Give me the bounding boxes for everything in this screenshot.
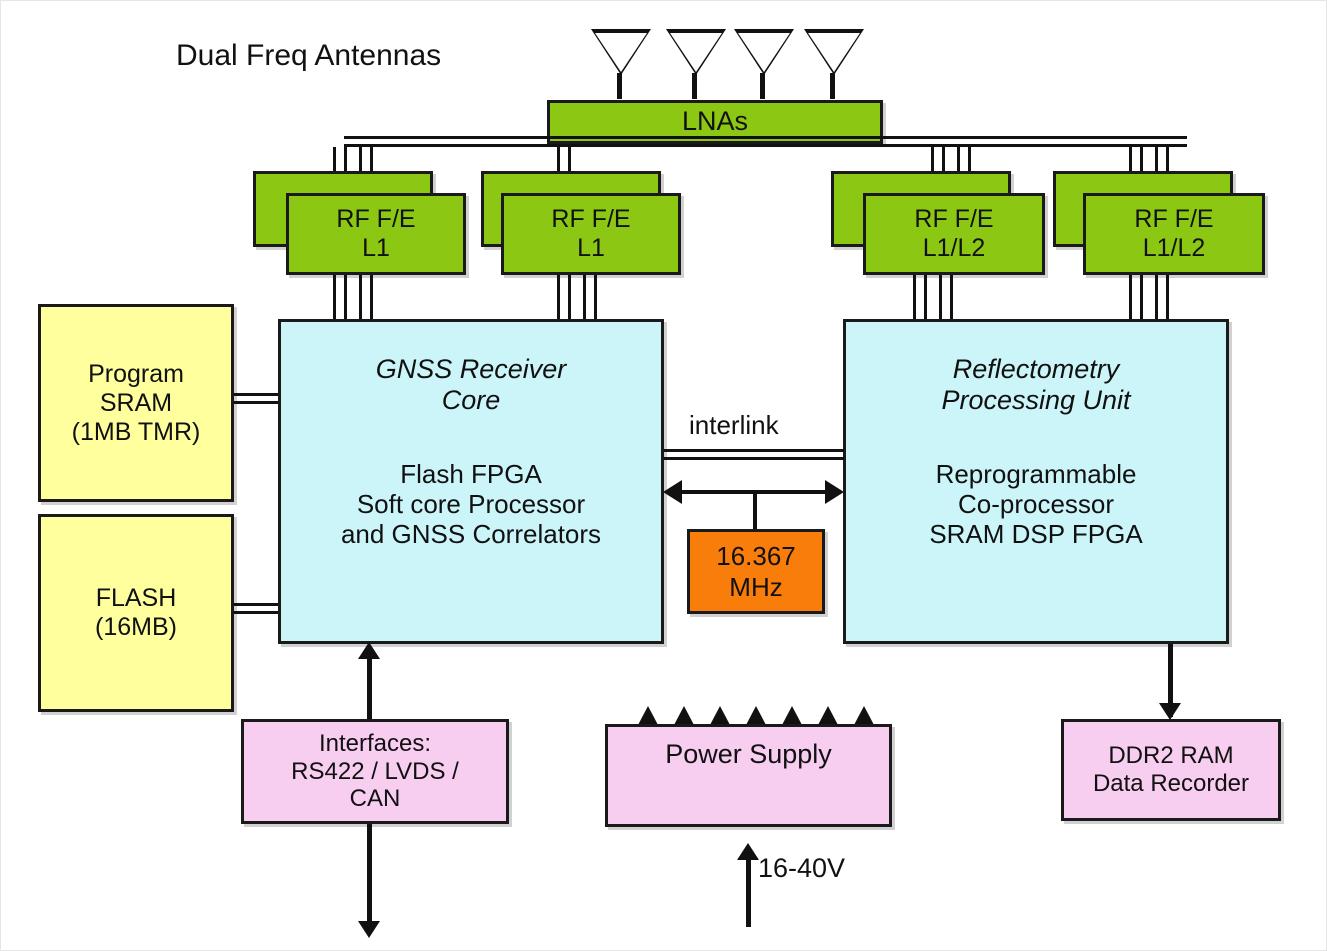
rf-fe-l1-b-line2: L1 (577, 234, 605, 263)
power-input-arrow-icon (737, 843, 759, 860)
rf-fe-l1l2-a-line2: L1/L2 (923, 234, 986, 263)
rf-to-rpu-link-3 (1129, 275, 1143, 321)
power-supply-label: Power Supply (665, 739, 832, 770)
oscillator-block[interactable]: 16.367 MHz (687, 529, 825, 614)
rpu-to-ddr2-arrow-icon (1159, 703, 1181, 720)
interfaces-to-core-line (367, 655, 372, 719)
rf-fe-l1l2-a-line1: RF F/E (914, 205, 993, 234)
page-title: Dual Freq Antennas (176, 39, 441, 73)
rf-to-core-link-3 (557, 275, 571, 321)
interfaces-external-arrow-icon (358, 921, 380, 938)
rf-fe-l1-b-line1: RF F/E (551, 205, 630, 234)
rpu-title-line1: Reflectometry (953, 354, 1120, 385)
block-diagram-canvas: Dual Freq Antennas LNAs RF F/E L1 (0, 0, 1327, 951)
interfaces-block[interactable]: Interfaces: RS422 / LVDS / CAN (241, 719, 509, 824)
rpu-body-line3: SRAM DSP FPGA (929, 519, 1142, 549)
clock-arrow-left-icon (663, 480, 682, 504)
power-rail-arrow-icon-5 (782, 706, 802, 725)
flash-block[interactable]: FLASH (16MB) (38, 514, 234, 712)
rf-to-rpu-link-1 (913, 275, 927, 321)
rf-to-rpu-link-4 (1155, 275, 1169, 321)
rf-to-rpu-link-2 (939, 275, 953, 321)
program-sram-line2: SRAM (100, 389, 172, 418)
rf-fe-l1l2-b-line1: RF F/E (1134, 205, 1213, 234)
interfaces-line3: CAN (350, 785, 401, 813)
rf-fe-l1l2-b[interactable]: RF F/E L1/L2 (1083, 193, 1265, 275)
rf-to-core-link-4 (583, 275, 597, 321)
gnss-receiver-core-block[interactable]: GNSS Receiver Core Flash FPGA Soft core … (278, 319, 664, 644)
power-input-line (746, 856, 751, 927)
power-rail-arrow-icon-4 (746, 706, 766, 725)
interlink-label: interlink (689, 410, 779, 441)
rf-fe-l1-a[interactable]: RF F/E L1 (286, 193, 466, 275)
rf-fe-l1l2-b-line2: L1/L2 (1143, 234, 1206, 263)
antenna-icon-3 (734, 29, 794, 99)
power-supply-block[interactable]: Power Supply (605, 724, 892, 827)
oscillator-line1: 16.367 (716, 541, 796, 571)
rpu-title-line2: Processing Unit (941, 385, 1130, 416)
gnss-core-body-line1: Flash FPGA (400, 459, 542, 489)
reflectometry-processing-unit-block[interactable]: Reflectometry Processing Unit Reprogramm… (843, 319, 1229, 644)
rpu-body-line1: Reprogrammable (936, 459, 1137, 489)
data-recorder-line2: Data Recorder (1093, 770, 1249, 798)
antenna-icon-1 (591, 29, 651, 99)
rf-fe-l1-a-line2: L1 (362, 234, 390, 263)
flash-line1: FLASH (96, 584, 177, 613)
gnss-core-body-line3: and GNSS Correlators (341, 519, 601, 549)
clock-arrow-right-icon (825, 480, 844, 504)
data-recorder-line1: DDR2 RAM (1108, 742, 1233, 770)
lnas-label: LNAs (682, 106, 748, 137)
interfaces-to-core-arrow-icon (358, 642, 380, 659)
oscillator-line2: MHz (729, 572, 782, 602)
gnss-core-title-line2: Core (442, 385, 501, 416)
power-rail-arrow-icon-6 (818, 706, 838, 725)
clock-stem-line (753, 490, 757, 529)
gnss-core-title-line1: GNSS Receiver (376, 354, 567, 385)
rf-to-core-link-1 (333, 275, 347, 321)
rf-fe-l1-b[interactable]: RF F/E L1 (501, 193, 681, 275)
rf-fe-l1l2-a[interactable]: RF F/E L1/L2 (863, 193, 1045, 275)
flash-line2: (16MB) (95, 613, 177, 642)
power-rail-arrow-icon-7 (854, 706, 874, 725)
interfaces-line2: RS422 / LVDS / (291, 758, 459, 786)
power-rail-arrow-icon-3 (710, 706, 730, 725)
rpu-body-line2: Co-processor (958, 489, 1114, 519)
rf-fe-l1-a-line1: RF F/E (336, 205, 415, 234)
rf-distribution-bus (344, 136, 1187, 147)
gnss-core-body-line2: Soft core Processor (357, 489, 585, 519)
program-sram-line3: (1MB TMR) (72, 418, 201, 447)
rf-to-core-link-2 (359, 275, 373, 321)
data-recorder-block[interactable]: DDR2 RAM Data Recorder (1061, 719, 1281, 821)
interlink-bus (664, 449, 844, 460)
program-sram-line1: Program (88, 360, 184, 389)
antenna-icon-4 (804, 29, 864, 99)
antenna-icon-2 (666, 29, 726, 99)
power-input-label: 16-40V (758, 853, 845, 884)
program-sram-block[interactable]: Program SRAM (1MB TMR) (38, 304, 234, 502)
interfaces-line1: Interfaces: (319, 730, 431, 758)
power-rail-arrow-icon-2 (674, 706, 694, 725)
interfaces-external-line (367, 824, 372, 927)
power-rail-arrow-icon-1 (638, 706, 658, 725)
